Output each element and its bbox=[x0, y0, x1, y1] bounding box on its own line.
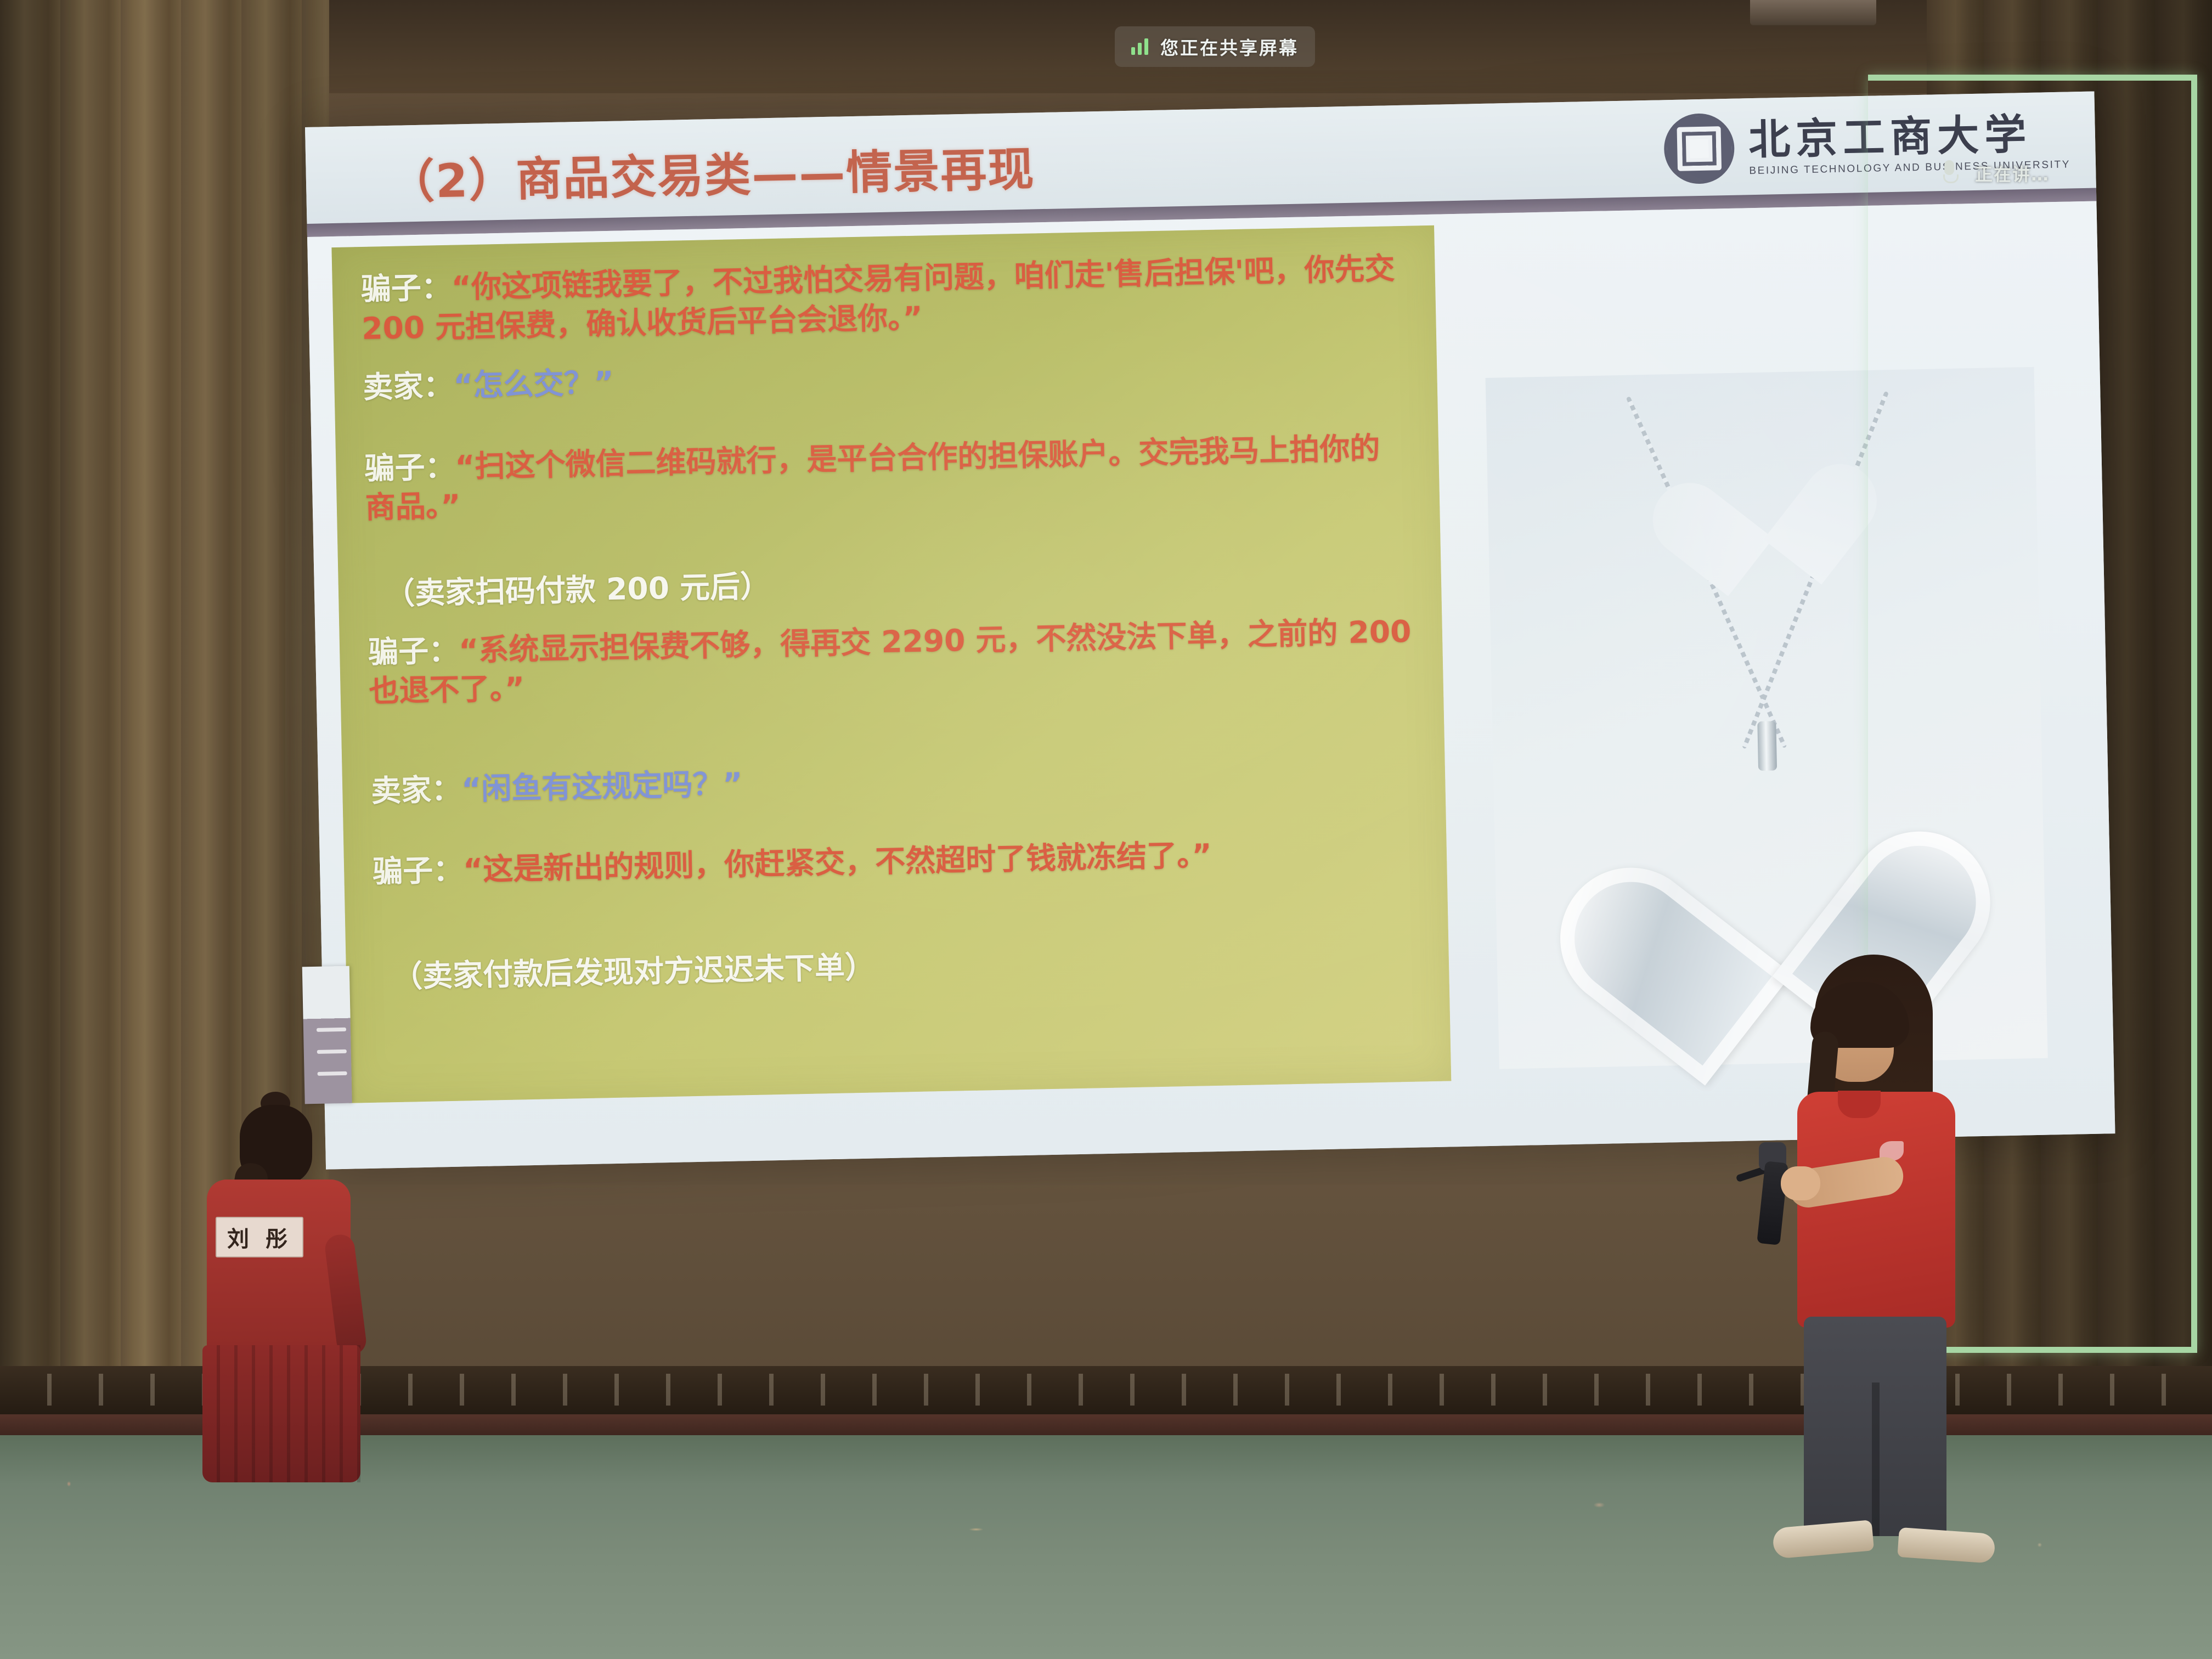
seated-actor: 刘 彤 bbox=[189, 1097, 370, 1470]
university-name-cn: 北京工商大学 bbox=[1748, 112, 2070, 162]
shirt-collar bbox=[1838, 1091, 1881, 1118]
hidden-side-panel[interactable] bbox=[302, 966, 352, 1104]
speaker-label: 骗子： bbox=[373, 852, 464, 889]
standing-presenter bbox=[1750, 955, 2002, 1558]
slide-title: （2）商品交易类——情景再现 bbox=[388, 132, 1036, 212]
signal-bars-icon bbox=[1131, 38, 1148, 55]
speaker-label: 卖家： bbox=[363, 368, 454, 405]
skirt bbox=[202, 1345, 360, 1482]
name-tag: 刘 彤 bbox=[216, 1217, 303, 1257]
screen-share-label: 您正在共享屏幕 bbox=[1160, 33, 1299, 60]
dialogue-text: “怎么交？” bbox=[453, 365, 614, 403]
ceiling-fixture bbox=[1750, 0, 1876, 25]
speaker-label: 骗子： bbox=[360, 270, 452, 307]
speaker-label: 骗子： bbox=[368, 633, 459, 669]
speaking-label: 正在讲… bbox=[1975, 161, 2050, 186]
speaking-indicator: 正在讲… bbox=[1942, 160, 2050, 187]
upper-wall-band bbox=[0, 0, 2212, 93]
microphone-icon bbox=[1942, 160, 1956, 187]
dialogue-panel: 骗子：“你这项链我要了，不过我怕交易有问题，咱们走'售后担保'吧，你先交 200… bbox=[331, 225, 1451, 1103]
speaker-label: 骗子： bbox=[364, 449, 455, 486]
dialogue-text: “你这项链我要了，不过我怕交易有问题，咱们走'售后担保'吧，你先交 200 元担… bbox=[362, 251, 1395, 346]
university-seal-icon bbox=[1663, 113, 1735, 185]
trousers bbox=[1804, 1317, 1946, 1536]
screen-share-banner[interactable]: 您正在共享屏幕 bbox=[1115, 26, 1315, 67]
dialogue-line: 骗子：“你这项链我要了，不过我怕交易有问题，咱们走'售后担保'吧，你先交 200… bbox=[360, 249, 1407, 348]
shoe-left bbox=[1772, 1520, 1874, 1559]
hand bbox=[1781, 1166, 1820, 1200]
speaker-label: 卖家： bbox=[371, 771, 462, 808]
auditorium-scene: （2）商品交易类——情景再现 北京工商大学 BEIJING TECHNOLOGY… bbox=[0, 0, 2212, 1659]
polo-shirt bbox=[1797, 1092, 1955, 1328]
dialogue-text: “闲鱼有这规定吗？” bbox=[461, 766, 743, 806]
heart-pendant-inner bbox=[1686, 417, 1838, 559]
